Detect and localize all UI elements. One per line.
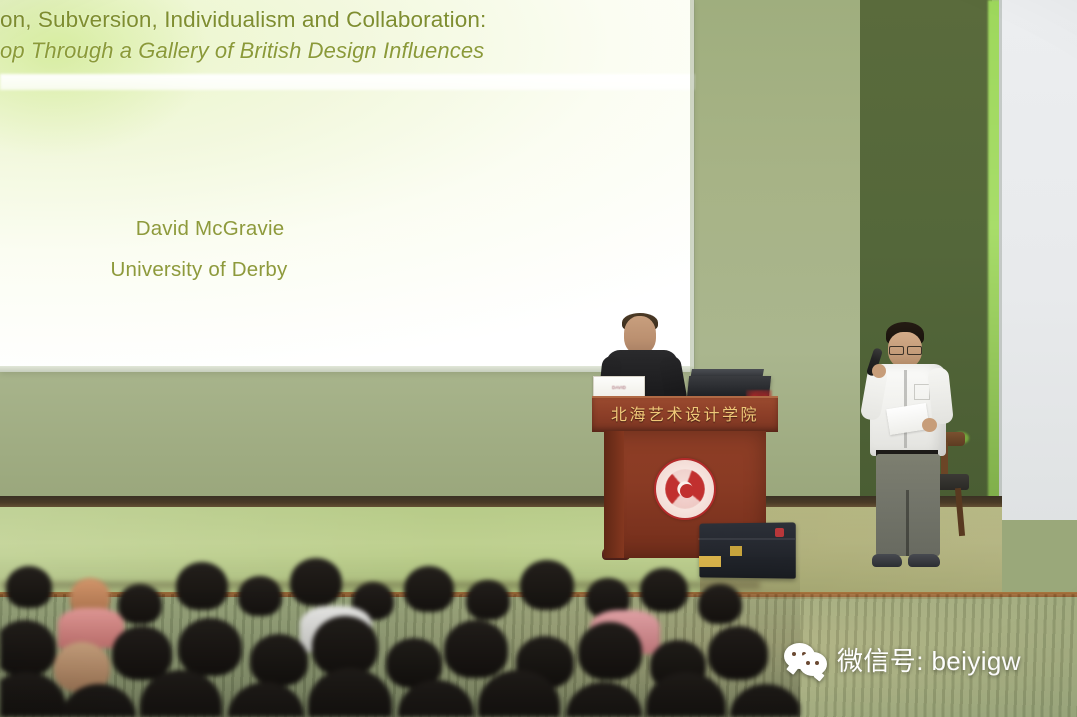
host-right-shoe bbox=[908, 554, 940, 567]
slide-title-line-1: on, Subversion, Individualism and Collab… bbox=[0, 4, 560, 35]
host-hand-holding-microphone bbox=[872, 364, 886, 378]
slide-title-block: on, Subversion, Individualism and Collab… bbox=[0, 4, 560, 66]
wall-panel-edge bbox=[999, 0, 1002, 520]
glasses-icon bbox=[888, 346, 922, 353]
stage-monitor-logo bbox=[775, 528, 784, 537]
slide-divider-band bbox=[0, 74, 694, 90]
audience-head bbox=[640, 568, 688, 612]
presenter-head bbox=[624, 316, 656, 354]
wechat-watermark: 微信号: beiyigw bbox=[784, 641, 1021, 678]
host-shirt-pocket bbox=[914, 384, 930, 400]
institution-logo bbox=[654, 458, 716, 520]
podium-institution-name: 北海艺术设计学院 bbox=[592, 401, 778, 425]
slide-title-line-2: op Through a Gallery of British Design I… bbox=[0, 35, 560, 66]
audience-head bbox=[444, 620, 508, 678]
audience-head bbox=[118, 584, 162, 624]
audience-head bbox=[0, 620, 56, 676]
audience-head bbox=[520, 560, 574, 610]
host-leg-gap bbox=[906, 490, 909, 556]
wall-white-panel bbox=[999, 0, 1077, 520]
audience-head bbox=[578, 622, 642, 680]
audience-head bbox=[238, 576, 282, 616]
audience-head bbox=[250, 634, 308, 686]
slide-presenter-organization: University of Derby bbox=[0, 256, 420, 284]
screen-right-edge bbox=[690, 0, 695, 372]
host-right-arm bbox=[927, 367, 954, 425]
audience-head bbox=[308, 668, 392, 717]
audience-head bbox=[290, 558, 342, 606]
audience-head bbox=[176, 562, 228, 610]
audience-crowd bbox=[0, 556, 800, 717]
host-left-shoe bbox=[872, 554, 902, 567]
host-speaker bbox=[862, 322, 958, 580]
slide-presenter-name: David McGravie bbox=[0, 215, 420, 243]
podium-body-left-face bbox=[604, 431, 624, 558]
audience-head bbox=[112, 626, 172, 680]
audience-head bbox=[466, 580, 510, 620]
audience-head bbox=[708, 626, 768, 680]
audience-head bbox=[566, 682, 642, 717]
institution-logo-core bbox=[680, 484, 694, 498]
audience-head bbox=[6, 566, 52, 608]
wechat-watermark-text: 微信号: beiyigw bbox=[837, 641, 1021, 678]
audience-head bbox=[312, 616, 378, 676]
stage-monitor-seam bbox=[698, 538, 795, 540]
podium-name-card-line-1: DAVID bbox=[594, 377, 644, 391]
screen-bottom-edge bbox=[0, 366, 694, 372]
wechat-bubble-front-icon bbox=[799, 652, 827, 676]
projection-screen: on, Subversion, Individualism and Collab… bbox=[0, 0, 694, 372]
host-hand-holding-papers bbox=[922, 418, 937, 432]
lecture-hall-photo: on, Subversion, Individualism and Collab… bbox=[0, 0, 1077, 717]
wechat-logo-icon bbox=[784, 643, 828, 677]
audience-head bbox=[730, 684, 800, 717]
audience-head bbox=[698, 584, 742, 624]
audience-head bbox=[178, 618, 242, 676]
audience-head bbox=[404, 566, 454, 612]
stage-monitor-badge bbox=[730, 546, 742, 556]
slide-presenter-block: David McGravie University of Derby bbox=[0, 215, 420, 284]
audience-head bbox=[228, 682, 304, 717]
